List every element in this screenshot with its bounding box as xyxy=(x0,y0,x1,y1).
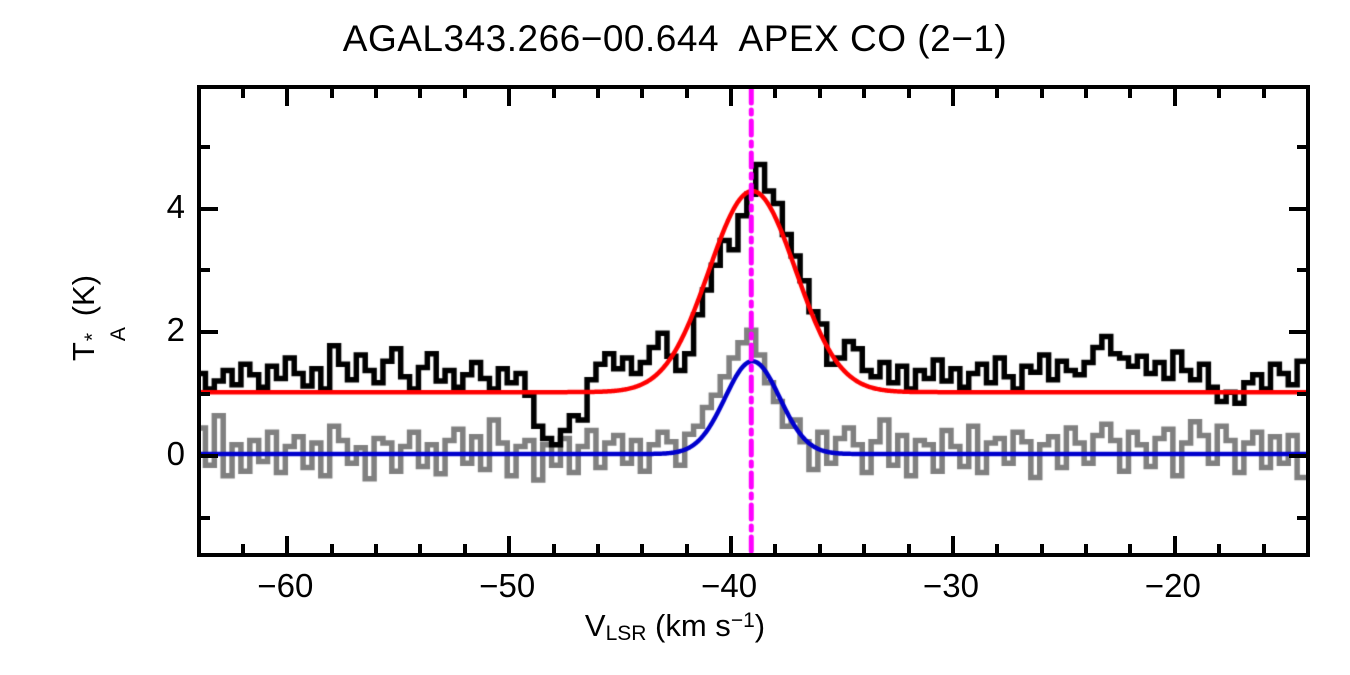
y-major-tick-right xyxy=(1289,330,1306,334)
x-minor-tick-top xyxy=(640,89,644,98)
y-axis-title: T*A (K) xyxy=(66,198,102,438)
x-minor-tick xyxy=(1262,544,1266,553)
y-tick-label: 4 xyxy=(107,188,185,226)
x-minor-tick xyxy=(1084,544,1088,553)
figure-root: AGAL343.266−00.644 APEX CO (2−1) −60−50−… xyxy=(0,0,1350,675)
x-minor-tick xyxy=(640,544,644,553)
x-minor-tick xyxy=(1217,544,1221,553)
x-minor-tick-top xyxy=(374,89,378,98)
x-tick-label: −40 xyxy=(701,567,757,605)
spectrum-canvas xyxy=(201,89,1306,553)
x-tick-label: −50 xyxy=(479,567,535,605)
x-minor-tick-top xyxy=(1084,89,1088,98)
y-major-tick-right xyxy=(1289,454,1306,458)
x-minor-tick-top xyxy=(862,89,866,98)
x-major-tick-top xyxy=(285,89,289,106)
x-minor-tick xyxy=(1040,544,1044,553)
y-major-tick xyxy=(201,454,218,458)
x-minor-tick xyxy=(596,544,600,553)
x-minor-tick xyxy=(862,544,866,553)
x-major-tick xyxy=(729,536,733,553)
x-major-tick-top xyxy=(729,89,733,106)
y-major-tick-right xyxy=(1289,207,1306,211)
x-minor-tick xyxy=(418,544,422,553)
y-minor-tick xyxy=(201,268,210,272)
plot-area xyxy=(197,85,1310,557)
x-major-tick-top xyxy=(1173,89,1177,106)
x-minor-tick-top xyxy=(685,89,689,98)
x-minor-tick-top xyxy=(596,89,600,98)
x-minor-tick-top xyxy=(330,89,334,98)
x-minor-tick-top xyxy=(463,89,467,98)
x-minor-tick xyxy=(552,544,556,553)
x-minor-tick-top xyxy=(418,89,422,98)
y-tick-label: 0 xyxy=(107,435,185,473)
x-minor-tick-top xyxy=(818,89,822,98)
y-minor-tick xyxy=(201,145,210,149)
x-minor-tick xyxy=(773,544,777,553)
x-tick-label: −60 xyxy=(257,567,313,605)
y-major-tick xyxy=(201,207,218,211)
x-major-tick xyxy=(951,536,955,553)
y-major-tick xyxy=(201,330,218,334)
x-axis-title: VLSR (km s−1) xyxy=(0,608,1350,646)
x-minor-tick-top xyxy=(1306,89,1310,98)
x-minor-tick xyxy=(330,544,334,553)
x-minor-tick xyxy=(463,544,467,553)
x-minor-tick-top xyxy=(907,89,911,98)
y-minor-tick xyxy=(201,516,210,520)
x-minor-tick xyxy=(995,544,999,553)
x-tick-label: −30 xyxy=(923,567,979,605)
x-minor-tick-top xyxy=(241,89,245,98)
x-major-tick xyxy=(507,536,511,553)
x-major-tick xyxy=(1173,536,1177,553)
x-major-tick-top xyxy=(951,89,955,106)
x-minor-tick xyxy=(1128,544,1132,553)
x-minor-tick-top xyxy=(1217,89,1221,98)
y-minor-tick xyxy=(201,392,210,396)
x-minor-tick-top xyxy=(552,89,556,98)
x-minor-tick-top xyxy=(773,89,777,98)
x-minor-tick-top xyxy=(1128,89,1132,98)
x-major-tick xyxy=(285,536,289,553)
x-minor-tick xyxy=(818,544,822,553)
x-minor-tick xyxy=(685,544,689,553)
x-minor-tick xyxy=(374,544,378,553)
y-minor-tick-right xyxy=(1297,516,1306,520)
x-minor-tick xyxy=(1306,544,1310,553)
y-minor-tick-right xyxy=(1297,392,1306,396)
x-minor-tick-top xyxy=(995,89,999,98)
x-minor-tick xyxy=(241,544,245,553)
y-minor-tick-right xyxy=(1297,268,1306,272)
x-minor-tick-top xyxy=(1262,89,1266,98)
figure-title: AGAL343.266−00.644 APEX CO (2−1) xyxy=(0,18,1350,60)
x-major-tick-top xyxy=(507,89,511,106)
y-minor-tick-right xyxy=(1297,145,1306,149)
x-minor-tick xyxy=(907,544,911,553)
x-tick-label: −20 xyxy=(1145,567,1201,605)
x-minor-tick-top xyxy=(1040,89,1044,98)
